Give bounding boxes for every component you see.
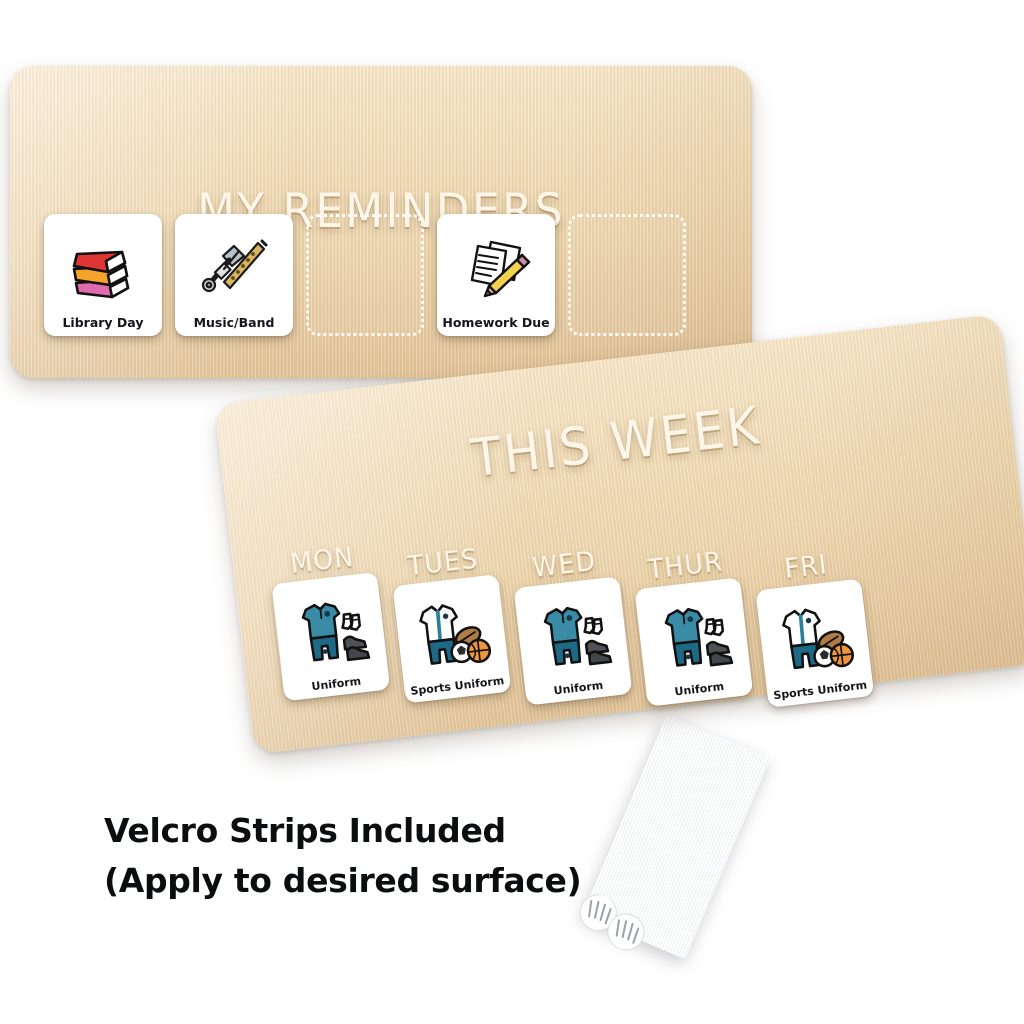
week-column-mon: MON — [268, 539, 391, 701]
books-icon — [44, 220, 162, 317]
paper-pencil-icon — [437, 220, 555, 317]
reminder-card-label: Music/Band — [194, 317, 275, 337]
board-my-reminders[interactable]: MY REMINDERS — [10, 66, 752, 378]
week-card-thur[interactable]: Uniform — [634, 577, 753, 706]
sports-uniform-icon — [756, 584, 872, 691]
reminder-card-music-band[interactable]: Music/Band — [175, 214, 293, 336]
product-photo-stage: MY REMINDERS — [0, 0, 1024, 1024]
caption-block: Velcro Strips Included (Apply to desired… — [104, 806, 624, 906]
caption-line-1: Velcro Strips Included — [104, 806, 624, 856]
week-column-thur: THUR — [631, 545, 754, 707]
week-card-fri[interactable]: Sports Uniform — [755, 578, 874, 707]
school-uniform-icon — [514, 582, 630, 689]
reminder-slot-row: Library Day — [44, 214, 686, 336]
week-card-mon[interactable]: Uniform — [271, 572, 390, 701]
reminder-card-library-day[interactable]: Library Day — [44, 214, 162, 336]
school-uniform-icon — [272, 578, 388, 685]
week-card-label: Uniform — [311, 676, 362, 699]
week-card-label: Uniform — [674, 681, 725, 704]
week-slot-row: MON — [268, 484, 875, 763]
school-uniform-icon — [635, 583, 751, 690]
trombone-recorder-icon — [175, 220, 293, 317]
caption-line-2: (Apply to desired surface) — [104, 856, 624, 906]
week-column-fri: FRI — [752, 546, 875, 708]
week-card-wed[interactable]: Uniform — [514, 576, 633, 705]
week-column-wed: WED — [510, 543, 633, 705]
week-card-tues[interactable]: Sports Uniform — [392, 574, 511, 703]
day-label-fri: FRI — [783, 549, 829, 585]
week-card-label: Uniform — [553, 680, 604, 703]
reminder-card-label: Homework Due — [442, 317, 549, 337]
week-column-tues: TUES — [389, 541, 512, 703]
reminder-slot-empty-3[interactable] — [306, 214, 424, 336]
sports-uniform-icon — [393, 580, 509, 687]
reminder-slot-empty-5[interactable] — [568, 214, 686, 336]
board-title-this-week: THIS WEEK — [248, 371, 985, 515]
board-this-week[interactable]: THIS WEEK MON — [214, 314, 1024, 754]
reminder-card-homework-due[interactable]: Homework Due — [437, 214, 555, 336]
day-label-wed: WED — [531, 546, 598, 584]
day-label-mon: MON — [288, 542, 355, 580]
reminder-card-label: Library Day — [62, 317, 143, 337]
